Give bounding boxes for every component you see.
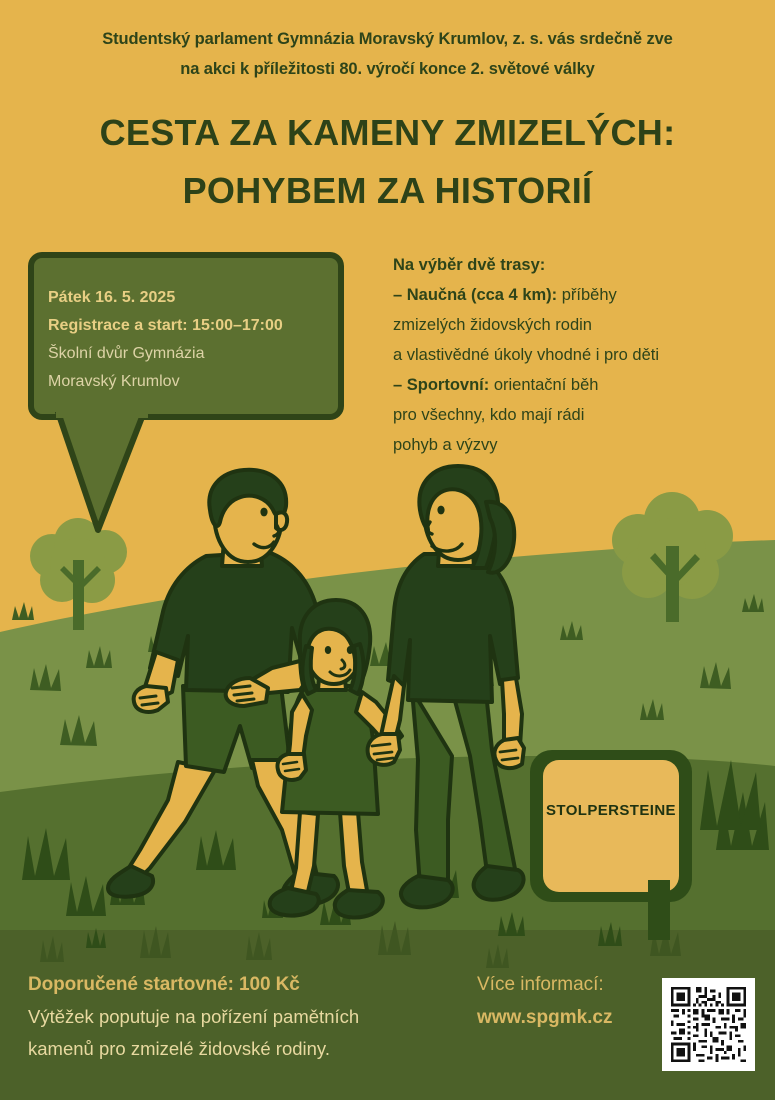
route-sport-line-3: pohyb a výzvy <box>393 430 763 460</box>
invite-line-2: na akci k příležitosti 80. výročí konce … <box>0 54 775 84</box>
qr-code[interactable] <box>662 978 755 1071</box>
bubble-text: Pátek 16. 5. 2025 Registrace a start: 15… <box>48 284 338 396</box>
footer-website-link[interactable]: www.spgmk.cz <box>477 1001 657 1034</box>
route-sport-label: – Sportovní: <box>393 376 489 394</box>
routes-block: Na výběr dvě trasy: – Naučná (cca 4 km):… <box>393 250 763 460</box>
footer-more-info-label: Více informací: <box>477 968 657 1001</box>
stolpersteine-sign-label: STOLPERSTEINE <box>539 802 683 819</box>
footer-fee: Doporučené startovné: 100 Kč <box>28 968 478 1001</box>
routes-heading: Na výběr dvě trasy: <box>393 250 763 280</box>
event-venue-line-1: Školní dvůr Gymnázia <box>48 340 338 368</box>
invitation-text: Studentský parlament Gymnázia Moravský K… <box>0 24 775 84</box>
route-educational-label: – Naučná (cca 4 km): <box>393 286 557 304</box>
bubble-tail-icon <box>48 412 188 542</box>
title-line-1: CESTA ZA KAMENY ZMIZELÝCH: <box>100 112 676 153</box>
footer-right-block: Více informací: www.spgmk.cz <box>477 968 657 1034</box>
event-registration: Registrace a start: 15:00–17:00 <box>48 312 338 340</box>
route-sport-line-1: – Sportovní: orientační běh <box>393 370 763 400</box>
title-line-2: POHYBEM ZA HISTORIÍ <box>0 162 775 220</box>
footer-left-block: Doporučené startovné: 100 Kč Výtěžek pop… <box>28 968 478 1065</box>
event-date: Pátek 16. 5. 2025 <box>48 284 338 312</box>
route-educational-line-1: – Naučná (cca 4 km): příběhy <box>393 280 763 310</box>
route-educational-text-1: příběhy <box>557 286 617 304</box>
poster: Studentský parlament Gymnázia Moravský K… <box>0 0 775 1100</box>
event-venue-line-2: Moravský Krumlov <box>48 368 338 396</box>
footer-proceeds-line-2: kamenů pro zmizelé židovské rodiny. <box>28 1033 478 1065</box>
route-educational-line-2: zmizelých židovských rodin <box>393 310 763 340</box>
route-sport-line-2: pro všechny, kdo mají rádi <box>393 400 763 430</box>
route-educational-line-3: a vlastivědné úkoly vhodné i pro děti <box>393 340 763 370</box>
page-title: CESTA ZA KAMENY ZMIZELÝCH: POHYBEM ZA HI… <box>0 104 775 220</box>
event-details-bubble: Pátek 16. 5. 2025 Registrace a start: 15… <box>28 252 348 502</box>
invite-line-1: Studentský parlament Gymnázia Moravský K… <box>102 30 673 48</box>
footer-proceeds-line-1: Výtěžek poputuje na pořízení pamětních <box>28 1001 478 1033</box>
qr-code-icon <box>668 984 749 1065</box>
route-sport-text-1: orientační běh <box>489 376 598 394</box>
